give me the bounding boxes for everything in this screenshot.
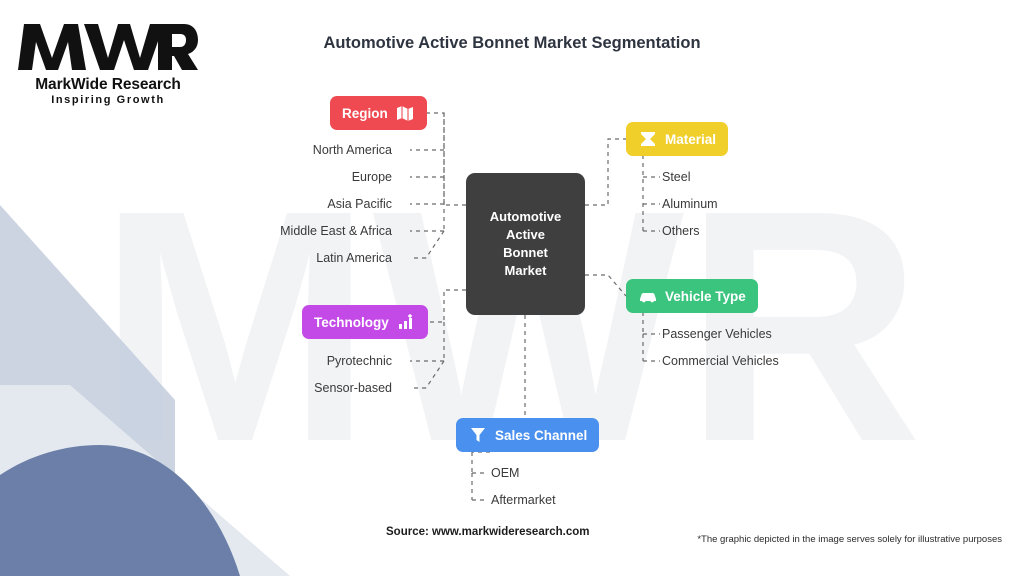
leaf-region-2: Asia Pacific [327, 197, 392, 211]
source-text: Source: www.markwideresearch.com [386, 526, 589, 538]
disclaimer-text: *The graphic depicted in the image serve… [697, 534, 1002, 545]
infographic-canvas: MWR MarkWide Research Inspiring Growth A… [0, 0, 1024, 576]
leaf-vehicle-type-1: Commercial Vehicles [662, 354, 779, 368]
branch-label-region: Region [342, 106, 388, 121]
funnel-icon [468, 425, 488, 445]
car-icon [638, 286, 658, 306]
branch-label-material: Material [665, 132, 716, 147]
logo-company-name: MarkWide Research [18, 76, 198, 94]
leaf-region-3: Middle East & Africa [280, 224, 392, 238]
leaf-region-4: Latin America [316, 251, 392, 265]
center-node: Automotive Active Bonnet Market [466, 173, 585, 315]
material-icon [638, 129, 658, 149]
branch-pill-technology[interactable]: Technology [302, 305, 428, 339]
branch-pill-sales-channel[interactable]: Sales Channel [456, 418, 599, 452]
leaf-region-1: Europe [352, 170, 392, 184]
leaf-vehicle-type-0: Passenger Vehicles [662, 327, 772, 341]
branch-pill-region[interactable]: Region [330, 96, 427, 130]
branch-label-vehicle-type: Vehicle Type [665, 289, 746, 304]
chart-up-icon [396, 312, 416, 332]
leaf-technology-1: Sensor-based [314, 381, 392, 395]
decorative-corner-shape [0, 175, 290, 576]
leaf-technology-0: Pyrotechnic [327, 354, 392, 368]
leaf-sales-channel-1: Aftermarket [491, 493, 556, 507]
leaf-sales-channel-0: OEM [491, 466, 519, 480]
map-icon [395, 103, 415, 123]
leaf-material-2: Others [662, 224, 700, 238]
logo-tagline: Inspiring Growth [18, 94, 198, 106]
center-node-label: Automotive Active Bonnet Market [490, 208, 562, 280]
branch-label-technology: Technology [314, 315, 389, 330]
branch-label-sales-channel: Sales Channel [495, 428, 587, 443]
leaf-region-0: North America [313, 143, 392, 157]
branch-pill-vehicle-type[interactable]: Vehicle Type [626, 279, 758, 313]
branch-pill-material[interactable]: Material [626, 122, 728, 156]
leaf-material-1: Aluminum [662, 197, 718, 211]
page-title: Automotive Active Bonnet Market Segmenta… [0, 34, 1024, 53]
leaf-material-0: Steel [662, 170, 691, 184]
logo: MarkWide Research Inspiring Growth [18, 18, 198, 108]
